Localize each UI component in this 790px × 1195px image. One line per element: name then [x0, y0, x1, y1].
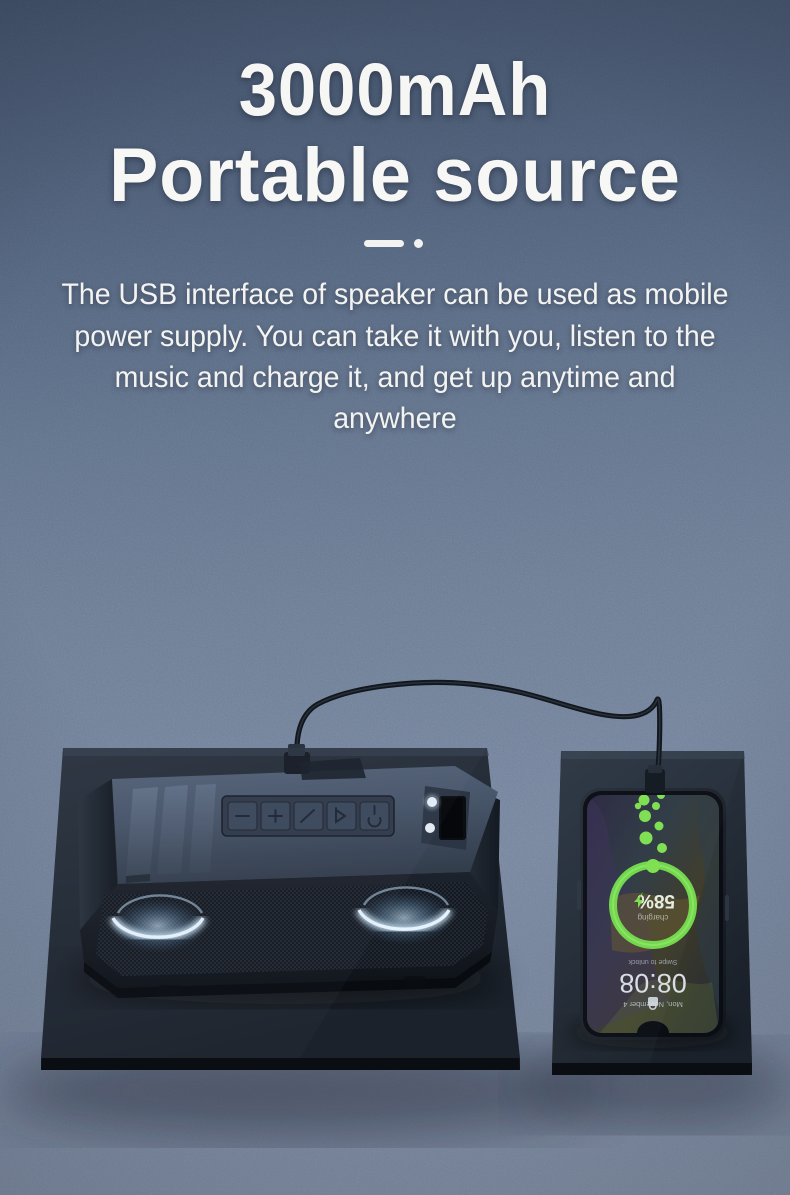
- product-feature-banner: 3000mAh Portable source The USB interfac…: [0, 0, 790, 1195]
- page-title-line-1: 3000mAh: [28, 0, 763, 124]
- divider-bar: [364, 240, 404, 247]
- divider-dot: [414, 239, 423, 248]
- divider-ornament: [364, 238, 426, 248]
- page-title-line-2: Portable source: [12, 124, 778, 212]
- body-copy: The USB interface of speaker can be used…: [60, 274, 731, 440]
- phone-side-button-2: [725, 895, 729, 921]
- headline-block: 3000mAh Portable source The USB interfac…: [0, 0, 790, 440]
